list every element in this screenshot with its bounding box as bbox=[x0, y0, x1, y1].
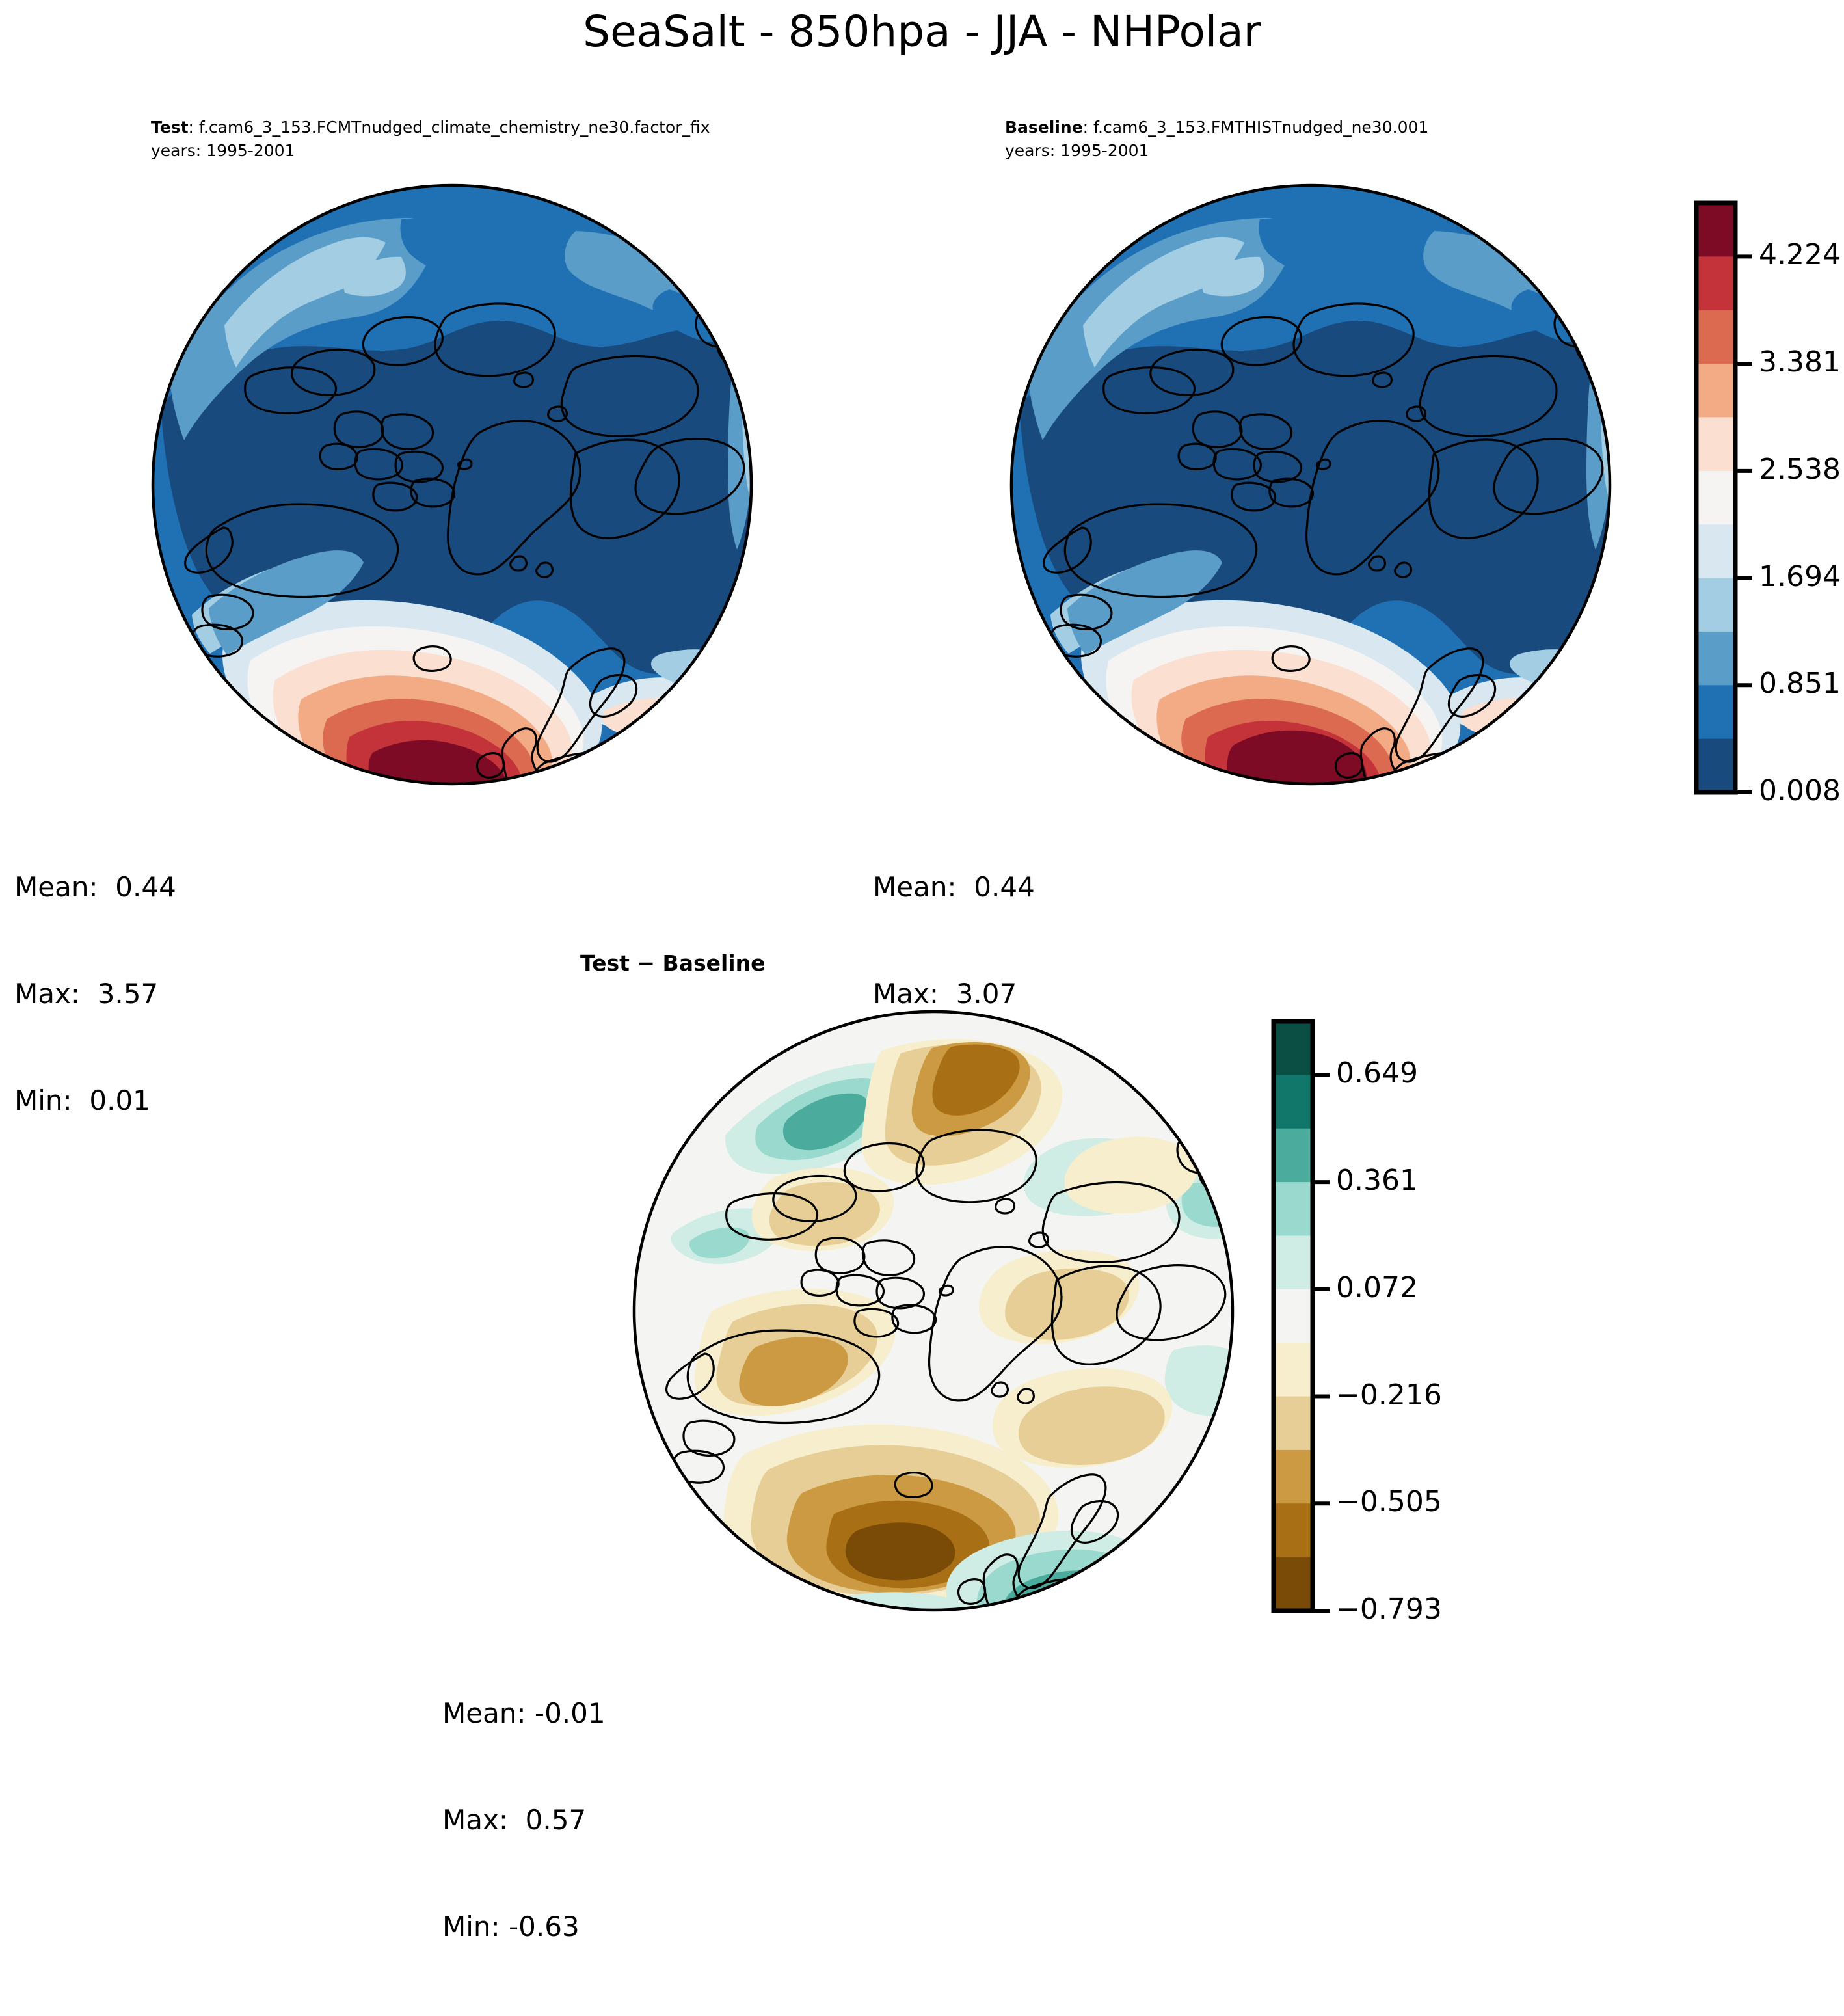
colorbar-tick-label: 4.224 bbox=[1759, 238, 1841, 271]
colorbar-band bbox=[1274, 1129, 1313, 1183]
test-stat-min: Min: 0.01 bbox=[14, 1083, 176, 1119]
test-stat-max: Max: 3.57 bbox=[14, 976, 176, 1012]
colorbar-band bbox=[1274, 1075, 1313, 1129]
colorbar-band bbox=[1696, 578, 1735, 632]
colorbar-band bbox=[1696, 524, 1735, 578]
colorbar-tick-label: 0.649 bbox=[1336, 1056, 1418, 1090]
difference-stat-max: Max: 0.57 bbox=[442, 1803, 606, 1838]
main-colorbar-ticks bbox=[1735, 256, 1752, 792]
difference-panel-title: Test − Baseline bbox=[580, 950, 766, 976]
colorbar-band bbox=[1274, 1289, 1313, 1343]
colorbar-band bbox=[1696, 685, 1735, 739]
test-panel-label: Test: f.cam6_3_153.FCMTnudged_climate_ch… bbox=[151, 116, 710, 163]
main-colorbar[interactable] bbox=[1691, 195, 1844, 800]
colorbar-tick-label: 0.851 bbox=[1759, 667, 1841, 700]
baseline-case-name: f.cam6_3_153.FMTHISTnudged_ne30.001 bbox=[1093, 118, 1428, 137]
colorbar-band bbox=[1274, 1182, 1313, 1236]
colorbar-band bbox=[1274, 1343, 1313, 1397]
difference-stats: Mean: -0.01 Max: 0.57 Min: -0.63 bbox=[442, 1625, 606, 2016]
figure-title: SeaSalt - 850hpa - JJA - NHPolar bbox=[0, 7, 1844, 57]
test-map[interactable] bbox=[146, 159, 758, 810]
colorbar-tick-label: 1.694 bbox=[1759, 560, 1841, 593]
test-stat-mean: Mean: 0.44 bbox=[14, 870, 176, 906]
colorbar-tick-label: 3.381 bbox=[1759, 345, 1841, 379]
colorbar-tick-label: 0.008 bbox=[1759, 774, 1841, 807]
difference-map-field bbox=[628, 986, 1239, 1636]
colorbar-band bbox=[1696, 203, 1735, 257]
colorbar-band bbox=[1696, 739, 1735, 793]
difference-colorbar-bands bbox=[1274, 1021, 1313, 1611]
difference-colorbar[interactable] bbox=[1268, 1014, 1421, 1619]
colorbar-band bbox=[1274, 1557, 1313, 1611]
colorbar-band bbox=[1696, 417, 1735, 471]
colorbar-band bbox=[1274, 1235, 1313, 1289]
difference-map[interactable] bbox=[628, 986, 1239, 1636]
difference-stat-mean: Mean: -0.01 bbox=[442, 1696, 606, 1732]
baseline-label-separator: : bbox=[1083, 118, 1088, 137]
colorbar-tick-label: 2.538 bbox=[1759, 453, 1841, 486]
colorbar-band bbox=[1274, 1397, 1313, 1451]
colorbar-band bbox=[1696, 256, 1735, 310]
test-label-separator: : bbox=[189, 118, 194, 137]
colorbar-band bbox=[1696, 364, 1735, 418]
colorbar-band bbox=[1274, 1450, 1313, 1504]
colorbar-band bbox=[1696, 310, 1735, 364]
colorbar-band bbox=[1274, 1503, 1313, 1557]
main-colorbar-bands bbox=[1696, 203, 1735, 793]
colorbar-tick-label: 0.361 bbox=[1336, 1164, 1418, 1197]
difference-stat-min: Min: -0.63 bbox=[442, 1909, 606, 1945]
baseline-map-field bbox=[1005, 159, 1616, 810]
colorbar-tick-label: 0.072 bbox=[1336, 1271, 1418, 1304]
colorbar-tick-label: −0.793 bbox=[1336, 1593, 1442, 1626]
baseline-panel-label: Baseline: f.cam6_3_153.FMTHISTnudged_ne3… bbox=[1005, 116, 1428, 163]
colorbar-tick-label: −0.216 bbox=[1336, 1378, 1442, 1412]
test-map-field bbox=[146, 159, 758, 810]
figure-canvas: SeaSalt - 850hpa - JJA - NHPolar Test: f… bbox=[0, 0, 1844, 1735]
baseline-map[interactable] bbox=[1005, 159, 1616, 810]
baseline-stat-mean: Mean: 0.44 bbox=[873, 870, 1035, 906]
test-role-label: Test bbox=[151, 118, 189, 137]
baseline-role-label: Baseline bbox=[1005, 118, 1083, 137]
colorbar-tick-label: −0.505 bbox=[1336, 1485, 1442, 1518]
colorbar-band bbox=[1274, 1021, 1313, 1075]
test-case-name: f.cam6_3_153.FCMTnudged_climate_chemistr… bbox=[199, 118, 710, 137]
difference-colorbar-ticks bbox=[1313, 1075, 1330, 1611]
test-stats: Mean: 0.44 Max: 3.57 Min: 0.01 bbox=[14, 799, 176, 1190]
colorbar-band bbox=[1696, 471, 1735, 525]
colorbar-band bbox=[1696, 632, 1735, 686]
